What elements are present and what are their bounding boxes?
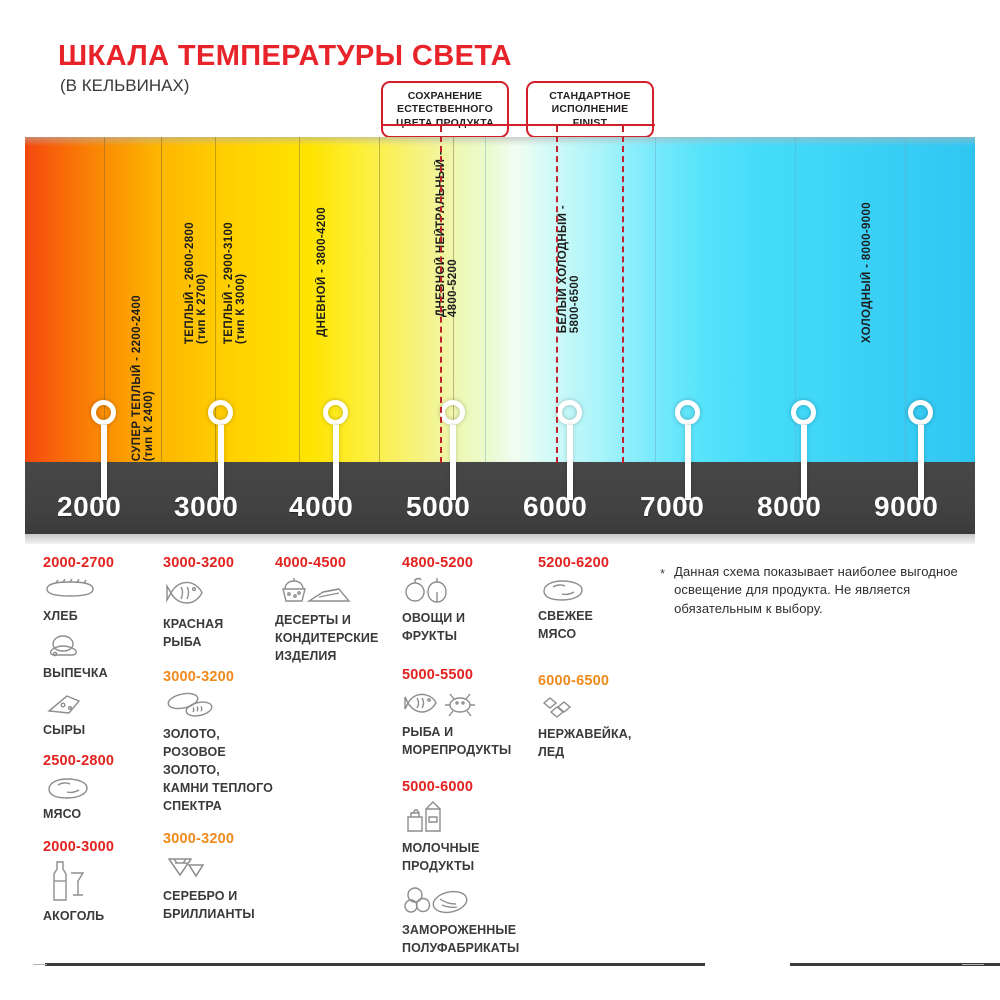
scale-marker-6000[interactable] — [557, 400, 582, 500]
footnote-text: Данная схема показывает наиболее выгодно… — [674, 563, 985, 618]
band-separator — [655, 137, 656, 462]
legend-group: 3000-3200 КРАСНАЯ РЫБА — [163, 555, 281, 651]
page-subtitle: (В КЕЛЬВИНАХ) — [60, 76, 189, 96]
legend-group: 5200-6200 СВЕЖЕЕ МЯСО — [538, 555, 648, 643]
marker-stem — [801, 425, 807, 500]
bread-icon — [43, 575, 161, 605]
list-item: ХЛЕБ — [43, 575, 161, 625]
list-item: АКОГОЛЬ — [43, 859, 161, 925]
list-item: МЯСО — [43, 773, 161, 823]
scale-marker-2000[interactable] — [91, 400, 116, 500]
callout-line: ЕСТЕСТВЕННОГО — [389, 103, 501, 116]
legend-group-range: 5200-6200 — [538, 555, 648, 571]
band-separator — [905, 137, 906, 462]
legend-group-range: 6000-6500 — [538, 673, 648, 689]
marker-ring — [440, 400, 465, 425]
callout-connector-stub — [381, 124, 655, 126]
legend-group-range: 4800-5200 — [402, 555, 524, 571]
band-label-line2: (тип К 2700) — [196, 222, 208, 344]
band-label-cold: ХОЛОДНЫЙ - 8000-9000 — [861, 202, 873, 343]
footnote-marker: * — [660, 563, 665, 618]
scale-marker-9000[interactable] — [908, 400, 933, 500]
marker-stem — [918, 425, 924, 500]
callout-connector-line — [622, 126, 624, 463]
marker-stem — [101, 425, 107, 500]
marker-ring — [91, 400, 116, 425]
gradient-top-shading — [25, 137, 975, 146]
list-item-label: РЫБА И МОРЕПРОДУКТЫ — [402, 725, 511, 757]
band-label-line1: СУПЕР ТЕПЛЫЙ - 2200-2400 — [131, 295, 143, 461]
scale-marker-4000[interactable] — [323, 400, 348, 500]
frozen-food-icon — [402, 885, 524, 919]
list-item-label: ВЫПЕЧКА — [43, 666, 108, 680]
diamond-icon — [163, 851, 281, 885]
legend-group-range: 5000-5500 — [402, 667, 524, 683]
list-item: ЗАМОРОЖЕННЫЕ ПОЛУФАБРИКАТЫ — [402, 885, 524, 957]
list-item: ВЫПЕЧКА — [43, 632, 161, 682]
gold-rings-icon — [163, 689, 281, 723]
band-label-super-warm: СУПЕР ТЕПЛЫЙ - 2200-2400 (тип К 2400) — [131, 295, 155, 461]
page-header: ШКАЛА ТЕМПЕРАТУРЫ СВЕТА (В КЕЛЬВИНАХ) СО… — [0, 0, 1000, 137]
list-item-label: КРАСНАЯ РЫБА — [163, 617, 223, 649]
list-item-label: ХЛЕБ — [43, 609, 78, 623]
band-separator — [379, 137, 380, 462]
band-label-line2: (тип К 3000) — [235, 222, 247, 344]
marker-ring — [208, 400, 233, 425]
meat-icon — [43, 773, 161, 803]
legend-group: 4000-4500 ДЕСЕРТЫ И КОНДИТЕРСКИЕ ИЗДЕЛИЯ — [275, 555, 397, 665]
callout-line: СОХРАНЕНИЕ — [389, 90, 501, 103]
list-item: СЫРЫ — [43, 689, 161, 739]
dairy-icon — [402, 799, 524, 837]
callout-connector-line — [556, 126, 558, 463]
marker-stem — [567, 425, 573, 500]
list-item: КРАСНАЯ РЫБА — [163, 575, 281, 651]
list-item-label: НЕРЖАВЕЙКА, ЛЕД — [538, 727, 631, 759]
legend-group: 5000-6000 МОЛОЧНЫЕ ПРОДУКТЫ ЗАМОРОЖЕННЫЕ… — [402, 779, 524, 957]
bottom-rule-right-tail — [962, 964, 984, 965]
legend-group-range: 3000-3200 — [163, 555, 281, 571]
scale-marker-5000[interactable] — [440, 400, 465, 500]
band-separator — [299, 137, 300, 462]
legend-column: 4000-4500 ДЕСЕРТЫ И КОНДИТЕРСКИЕ ИЗДЕЛИЯ — [275, 555, 397, 672]
gradient-spectrum — [25, 137, 975, 462]
list-item-label: ОВОЩИ И ФРУКТЫ — [402, 611, 465, 643]
band-label-white-cold: БЕЛЫЙ ХОЛОДНЫЙ - 5800-6500 — [557, 205, 581, 333]
list-item: НЕРЖАВЕЙКА, ЛЕД — [538, 693, 648, 761]
legend-group: 2000-2700 ХЛЕБ ВЫПЕЧКА СЫРЫ — [43, 555, 161, 739]
legend-column: 3000-3200 КРАСНАЯ РЫБА 3000-3200 ЗОЛОТО,… — [163, 555, 281, 930]
legend-group: 2500-2800 МЯСО — [43, 753, 161, 823]
page-title: ШКАЛА ТЕМПЕРАТУРЫ СВЕТА — [58, 40, 512, 73]
list-item: ОВОЩИ И ФРУКТЫ — [402, 575, 524, 645]
band-label-line1: ДНЕВНОЙ - 3800-4200 — [316, 207, 328, 337]
list-item-label: АКОГОЛЬ — [43, 909, 104, 923]
callout-line: СТАНДАРТНОЕ — [534, 90, 646, 103]
list-item: СВЕЖЕЕ МЯСО — [538, 575, 648, 643]
list-item-label: СЫРЫ — [43, 723, 85, 737]
legend-group-range: 2000-2700 — [43, 555, 161, 571]
callout-connector-line — [440, 126, 442, 463]
scale-marker-7000[interactable] — [675, 400, 700, 500]
band-label-line2: 4800-5200 — [447, 151, 459, 317]
legend-group: 3000-3200 СЕРЕБРО И БРИЛЛИАНТЫ — [163, 831, 281, 923]
marker-ring — [675, 400, 700, 425]
marker-stem — [685, 425, 691, 500]
legend-group: 6000-6500 НЕРЖАВЕЙКА, ЛЕД — [538, 673, 648, 761]
scale-bar-shadow — [25, 534, 975, 544]
marker-stem — [450, 425, 456, 500]
seafood-icon — [402, 687, 524, 721]
legend-group-range: 2000-3000 — [43, 839, 161, 855]
legend-group: 5000-5500 РЫБА И МОРЕПРОДУКТЫ — [402, 667, 524, 759]
list-item: МОЛОЧНЫЕ ПРОДУКТЫ — [402, 799, 524, 875]
list-item-label: ЗАМОРОЖЕННЫЕ ПОЛУФАБРИКАТЫ — [402, 923, 519, 955]
list-item: ЗОЛОТО, РОЗОВОЕ ЗОЛОТО, КАМНИ ТЕПЛОГО СП… — [163, 689, 281, 815]
fresh-meat-icon — [538, 575, 648, 605]
band-label-daylight: ДНЕВНОЙ - 3800-4200 — [316, 207, 328, 337]
list-item-label: ЗОЛОТО, РОЗОВОЕ ЗОЛОТО, КАМНИ ТЕПЛОГО СП… — [163, 727, 273, 813]
legend-column: 2000-2700 ХЛЕБ ВЫПЕЧКА СЫРЫ 25 — [43, 555, 161, 932]
pastry-icon — [43, 632, 161, 662]
marker-ring — [908, 400, 933, 425]
product-legend: 2000-2700 ХЛЕБ ВЫПЕЧКА СЫРЫ 25 — [0, 555, 1000, 965]
scale-marker-3000[interactable] — [208, 400, 233, 500]
callout-natural-color: СОХРАНЕНИЕ ЕСТЕСТВЕННОГО ЦВЕТА ПРОДУКТА — [381, 81, 509, 138]
callout-standard-finist: СТАНДАРТНОЕ ИСПОЛНЕНИЕ FINIST — [526, 81, 654, 138]
marker-stem — [218, 425, 224, 500]
band-label-line2: 5800-6500 — [569, 205, 581, 333]
legend-group: 4800-5200 ОВОЩИ И ФРУКТЫ — [402, 555, 524, 645]
list-item: СЕРЕБРО И БРИЛЛИАНТЫ — [163, 851, 281, 923]
marker-stem — [333, 425, 339, 500]
legend-group-range: 3000-3200 — [163, 669, 281, 685]
band-label-warm-3000: ТЕПЛЫЙ - 2900-3100 (тип К 3000) — [223, 222, 247, 344]
legend-group: 2000-3000 АКОГОЛЬ — [43, 839, 161, 925]
alcohol-icon — [43, 859, 161, 905]
band-label-line1: ТЕПЛЫЙ - 2600-2800 — [184, 222, 196, 344]
list-item: ДЕСЕРТЫ И КОНДИТЕРСКИЕ ИЗДЕЛИЯ — [275, 575, 397, 665]
fruit-icon — [402, 575, 524, 607]
list-item-label: ДЕСЕРТЫ И КОНДИТЕРСКИЕ ИЗДЕЛИЯ — [275, 613, 378, 663]
marker-ring — [323, 400, 348, 425]
list-item-label: МЯСО — [43, 807, 81, 821]
cheese-icon — [43, 689, 161, 719]
band-label-daylight-neutral: ДНЕВНОЙ НЕЙТРАЛЬНЫЙ - 4800-5200 — [435, 151, 459, 317]
legend-group-range: 3000-3200 — [163, 831, 281, 847]
legend-group-range: 5000-6000 — [402, 779, 524, 795]
legend-column: 4800-5200 ОВОЩИ И ФРУКТЫ 5000-5500 РЫБА … — [402, 555, 524, 964]
legend-group: 3000-3200 ЗОЛОТО, РОЗОВОЕ ЗОЛОТО, КАМНИ … — [163, 669, 281, 815]
bottom-rule-left — [45, 963, 705, 966]
band-label-line2: (тип К 2400) — [143, 295, 155, 461]
list-item-label: СЕРЕБРО И БРИЛЛИАНТЫ — [163, 889, 255, 921]
marker-ring — [791, 400, 816, 425]
scale-marker-8000[interactable] — [791, 400, 816, 500]
dessert-icon — [275, 575, 397, 609]
list-item: РЫБА И МОРЕПРОДУКТЫ — [402, 687, 524, 759]
legend-group-range: 2500-2800 — [43, 753, 161, 769]
callout-line: ИСПОЛНЕНИЕ — [534, 103, 646, 116]
band-separator — [161, 137, 162, 462]
band-label-line1: БЕЛЫЙ ХОЛОДНЫЙ - — [557, 205, 569, 333]
legend-column: 5200-6200 СВЕЖЕЕ МЯСО 6000-6500 НЕРЖАВЕЙ… — [538, 555, 648, 768]
steel-ice-icon — [538, 693, 648, 723]
fish-icon — [163, 575, 281, 613]
temperature-scale: СУПЕР ТЕПЛЫЙ - 2200-2400 (тип К 2400) ТЕ… — [25, 137, 975, 547]
legend-group-range: 4000-4500 — [275, 555, 397, 571]
list-item-label: СВЕЖЕЕ МЯСО — [538, 609, 593, 641]
band-label-line1: ТЕПЛЫЙ - 2900-3100 — [223, 222, 235, 344]
bottom-rule-left-tail — [33, 964, 47, 965]
marker-ring — [557, 400, 582, 425]
list-item-label: МОЛОЧНЫЕ ПРОДУКТЫ — [402, 841, 480, 873]
footnote: * Данная схема показывает наиболее выгод… — [660, 563, 985, 618]
band-label-line1: ХОЛОДНЫЙ - 8000-9000 — [861, 202, 873, 343]
scale-number-bar: 2000 3000 4000 5000 6000 7000 8000 9000 — [25, 462, 975, 534]
band-separator — [485, 137, 486, 462]
band-label-warm-2700: ТЕПЛЫЙ - 2600-2800 (тип К 2700) — [184, 222, 208, 344]
